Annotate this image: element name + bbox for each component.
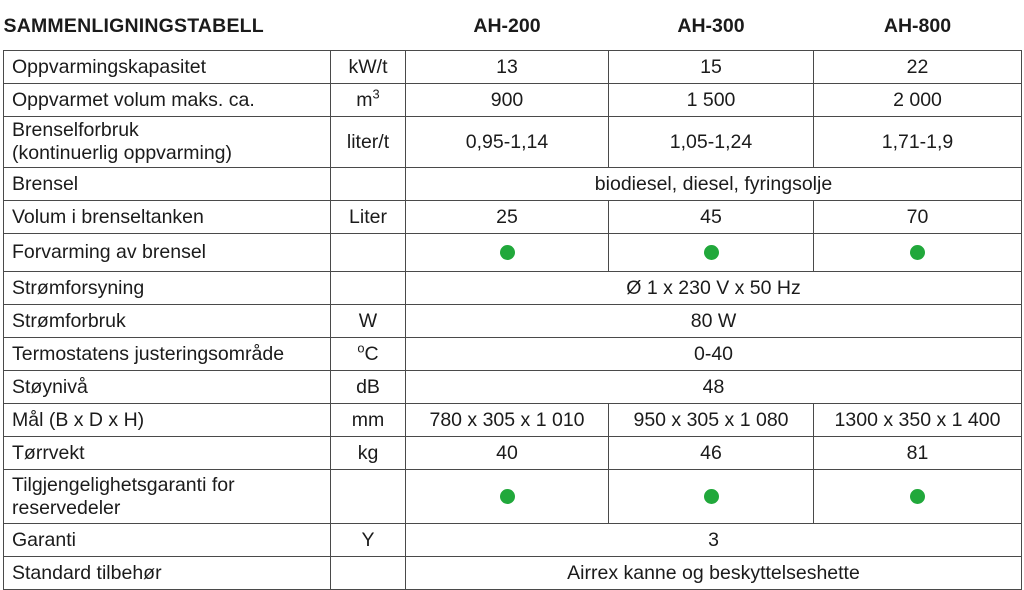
cell-tank-volume-ah300: 45 xyxy=(609,201,814,234)
row-unit-standard-accessories xyxy=(331,557,406,590)
table-row: Forvarming av brensel xyxy=(4,234,1022,272)
table-header-row: SAMMENLIGNINGSTABELL AH-200 AH-300 AH-80… xyxy=(4,3,1022,51)
row-unit-dimensions: mm xyxy=(331,404,406,437)
green-dot-icon xyxy=(910,489,925,504)
table-row: Tilgjengelighetsgaranti for reservedeler xyxy=(4,470,1022,524)
cell-heating-capacity-ah800: 22 xyxy=(814,51,1022,84)
cell-spare-parts-guarantee-ah200 xyxy=(406,470,609,524)
table-row: Støynivå dB 48 xyxy=(4,371,1022,404)
unit-superscript: 3 xyxy=(373,86,380,101)
row-unit-thermostat-range: oC xyxy=(331,338,406,371)
header-spacer xyxy=(331,3,406,51)
table-row: Oppvarmingskapasitet kW/t 13 15 22 xyxy=(4,51,1022,84)
table-row: Mål (B x D x H) mm 780 x 305 x 1 010 950… xyxy=(4,404,1022,437)
unit-base: m xyxy=(356,89,372,111)
cell-tank-volume-ah200: 25 xyxy=(406,201,609,234)
cell-heating-capacity-ah200: 13 xyxy=(406,51,609,84)
row-label-thermostat-range: Termostatens justeringsområde xyxy=(4,338,331,371)
page-title: SAMMENLIGNINGSTABELL xyxy=(4,3,331,51)
row-label-spare-parts-guarantee: Tilgjengelighetsgaranti for reservedeler xyxy=(4,470,331,524)
cell-heated-volume-ah300: 1 500 xyxy=(609,84,814,117)
cell-fuel-consumption-ah800: 1,71-1,9 xyxy=(814,117,1022,168)
row-label-fuel-preheating: Forvarming av brensel xyxy=(4,234,331,272)
unit-superscript: o xyxy=(357,340,364,355)
cell-noise-level-all-models: 48 xyxy=(406,371,1022,404)
table-row: Strømforsyning Ø 1 x 230 V x 50 Hz xyxy=(4,272,1022,305)
cell-dimensions-ah300: 950 x 305 x 1 080 xyxy=(609,404,814,437)
table-row: Strømforbruk W 80 W xyxy=(4,305,1022,338)
cell-dry-weight-ah300: 46 xyxy=(609,437,814,470)
cell-standard-accessories-all-models: Airrex kanne og beskyttelseshette xyxy=(406,557,1022,590)
cell-fuel-consumption-ah200: 0,95-1,14 xyxy=(406,117,609,168)
cell-power-consumption-all-models: 80 W xyxy=(406,305,1022,338)
row-unit-heating-capacity: kW/t xyxy=(331,51,406,84)
row-unit-warranty: Y xyxy=(331,524,406,557)
cell-spare-parts-guarantee-ah800 xyxy=(814,470,1022,524)
cell-heated-volume-ah800: 2 000 xyxy=(814,84,1022,117)
table-row: Brenselforbruk (kontinuerlig oppvarming)… xyxy=(4,117,1022,168)
comparison-table: SAMMENLIGNINGSTABELL AH-200 AH-300 AH-80… xyxy=(3,3,1022,590)
row-label-fuel: Brensel xyxy=(4,168,331,201)
cell-warranty-all-models: 3 xyxy=(406,524,1022,557)
row-label-standard-accessories: Standard tilbehør xyxy=(4,557,331,590)
table-row: Termostatens justeringsområde oC 0-40 xyxy=(4,338,1022,371)
row-unit-power-supply xyxy=(331,272,406,305)
cell-power-supply-all-models: Ø 1 x 230 V x 50 Hz xyxy=(406,272,1022,305)
row-label-dimensions: Mål (B x D x H) xyxy=(4,404,331,437)
row-unit-power-consumption: W xyxy=(331,305,406,338)
row-unit-fuel xyxy=(331,168,406,201)
table-row: Garanti Y 3 xyxy=(4,524,1022,557)
row-label-dry-weight: Tørrvekt xyxy=(4,437,331,470)
cell-dry-weight-ah800: 81 xyxy=(814,437,1022,470)
row-label-warranty: Garanti xyxy=(4,524,331,557)
green-dot-icon xyxy=(500,245,515,260)
cell-heating-capacity-ah300: 15 xyxy=(609,51,814,84)
cell-spare-parts-guarantee-ah300 xyxy=(609,470,814,524)
cell-thermostat-range-all-models: 0-40 xyxy=(406,338,1022,371)
cell-fuel-consumption-ah300: 1,05-1,24 xyxy=(609,117,814,168)
row-unit-tank-volume: Liter xyxy=(331,201,406,234)
row-unit-heated-volume: m3 xyxy=(331,84,406,117)
cell-heated-volume-ah200: 900 xyxy=(406,84,609,117)
row-unit-noise-level: dB xyxy=(331,371,406,404)
table-row: Tørrvekt kg 40 46 81 xyxy=(4,437,1022,470)
cell-dimensions-ah800: 1300 x 350 x 1 400 xyxy=(814,404,1022,437)
model-header-ah200: AH-200 xyxy=(406,3,609,51)
unit-base: C xyxy=(365,343,379,365)
cell-fuel-preheating-ah300 xyxy=(609,234,814,272)
green-dot-icon xyxy=(500,489,515,504)
model-header-ah800: AH-800 xyxy=(814,3,1022,51)
cell-fuel-preheating-ah800 xyxy=(814,234,1022,272)
row-label-tank-volume: Volum i brenseltanken xyxy=(4,201,331,234)
table-row: Brensel biodiesel, diesel, fyringsolje xyxy=(4,168,1022,201)
row-label-power-supply: Strømforsyning xyxy=(4,272,331,305)
comparison-table-page: SAMMENLIGNINGSTABELL AH-200 AH-300 AH-80… xyxy=(0,3,1024,566)
cell-fuel-all-models: biodiesel, diesel, fyringsolje xyxy=(406,168,1022,201)
table-row: Volum i brenseltanken Liter 25 45 70 xyxy=(4,201,1022,234)
table-row: Oppvarmet volum maks. ca. m3 900 1 500 2… xyxy=(4,84,1022,117)
cell-tank-volume-ah800: 70 xyxy=(814,201,1022,234)
row-label-heated-volume: Oppvarmet volum maks. ca. xyxy=(4,84,331,117)
row-unit-dry-weight: kg xyxy=(331,437,406,470)
model-header-ah300: AH-300 xyxy=(609,3,814,51)
row-label-power-consumption: Strømforbruk xyxy=(4,305,331,338)
row-label-noise-level: Støynivå xyxy=(4,371,331,404)
cell-dimensions-ah200: 780 x 305 x 1 010 xyxy=(406,404,609,437)
row-label-fuel-consumption: Brenselforbruk (kontinuerlig oppvarming) xyxy=(4,117,331,168)
cell-dry-weight-ah200: 40 xyxy=(406,437,609,470)
row-unit-spare-parts-guarantee xyxy=(331,470,406,524)
row-unit-fuel-preheating xyxy=(331,234,406,272)
green-dot-icon xyxy=(704,489,719,504)
cell-fuel-preheating-ah200 xyxy=(406,234,609,272)
table-row: Standard tilbehør Airrex kanne og beskyt… xyxy=(4,557,1022,590)
green-dot-icon xyxy=(910,245,925,260)
row-unit-fuel-consumption: liter/t xyxy=(331,117,406,168)
row-label-heating-capacity: Oppvarmingskapasitet xyxy=(4,51,331,84)
green-dot-icon xyxy=(704,245,719,260)
